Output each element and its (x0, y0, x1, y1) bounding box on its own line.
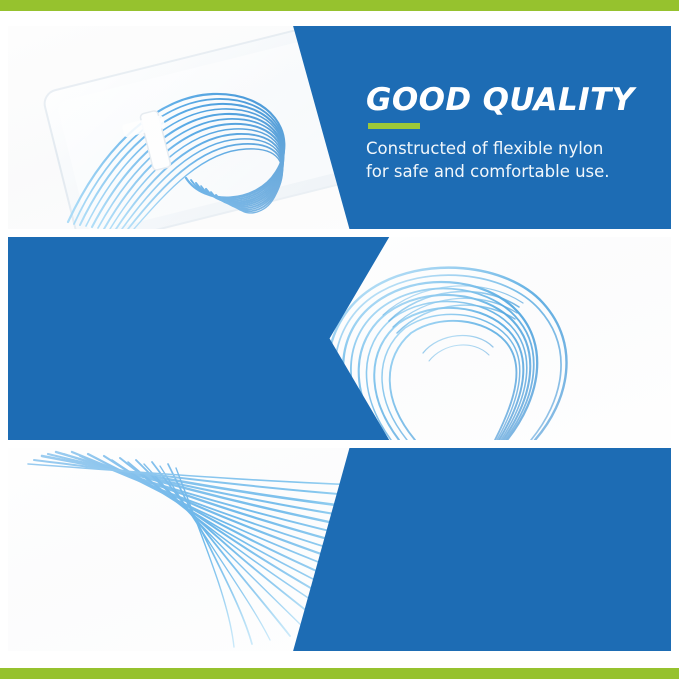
top-green-rule (0, 0, 679, 11)
feature-panel-good-quality: GOOD QUALITY Constructed of flexible nyl… (8, 26, 671, 229)
panel-headline: GOOD QUALITY (366, 84, 656, 116)
feature-copy-good-quality: GOOD QUALITY Constructed of flexible nyl… (366, 84, 656, 184)
bottom-green-rule (0, 668, 679, 679)
feature-panel-easy-to-use: EASY TO USE Flexible tip inserts into sm… (8, 448, 671, 651)
panel-body-line-1: Constructed of flexible nylon (366, 138, 656, 161)
panel-body-line-2: for safe and comfortable use. (366, 161, 656, 184)
green-accent-bar (368, 123, 420, 129)
feature-panel-difficulty-out: DIFFICULTY OUT Takes the difficulty out … (8, 237, 671, 440)
infographic-page: GOOD QUALITY Constructed of flexible nyl… (0, 0, 679, 679)
